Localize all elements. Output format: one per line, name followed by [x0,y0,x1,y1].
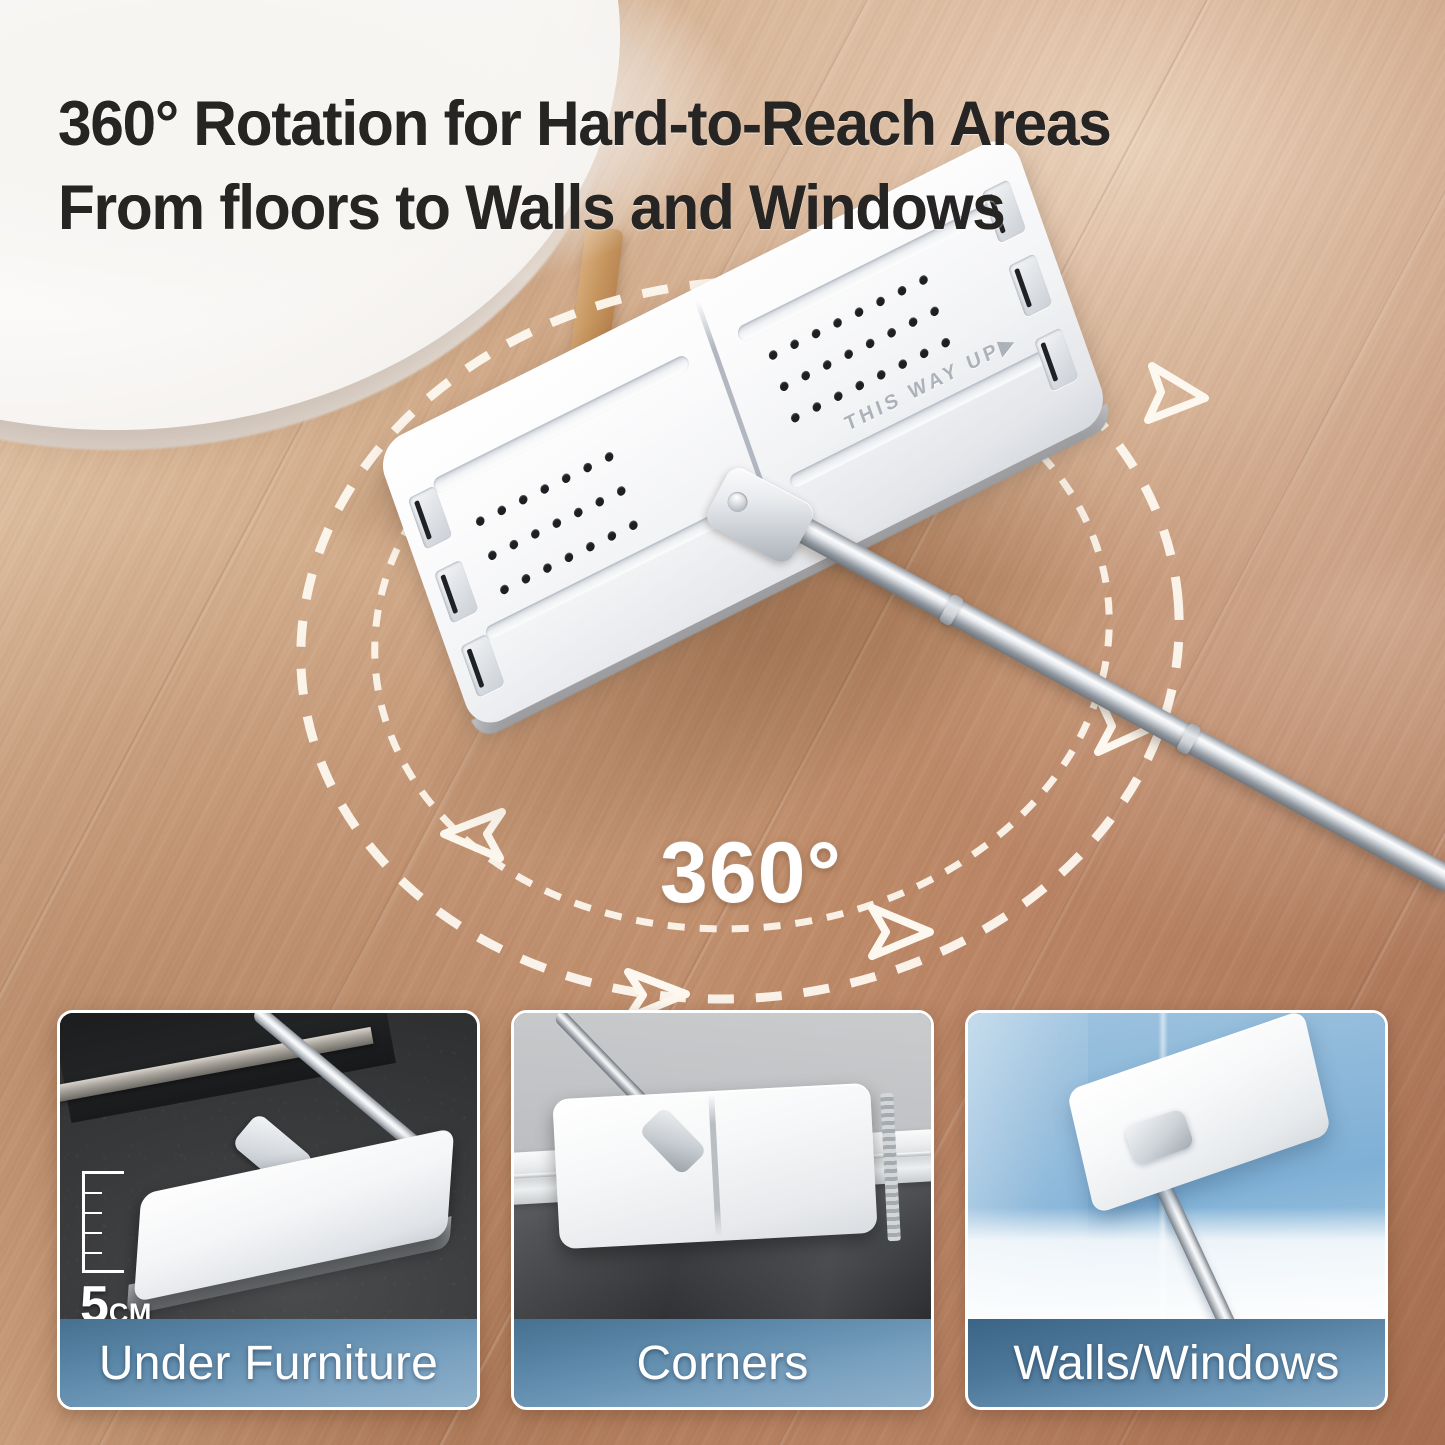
mop-pad-clip [1008,253,1053,318]
panel-label-corners: Corners [514,1319,931,1407]
headline-line-1-text: 360° Rotation for Hard-to-Reach Areas [58,89,1111,159]
feature-panel-strip: 5CM Under Furniture Corners [0,1010,1445,1445]
feature-panel-corners[interactable]: Corners [511,1010,934,1410]
feature-panel-walls-windows[interactable]: Walls/Windows [965,1010,1388,1410]
mop-groove-upper-left [431,354,691,496]
mop-head-vertical [552,1083,877,1249]
mop-pad-clip [1034,327,1079,392]
mop-head-center-seam [708,1095,721,1237]
height-measure-bracket [82,1171,124,1273]
pole-joint [938,593,964,626]
panel-label-walls-windows: Walls/Windows [968,1319,1385,1407]
panel-label-under-furniture: Under Furniture [60,1319,477,1407]
headline-foreground: 360° Rotation for Hard-to-Reach Areas Fr… [58,82,1357,250]
mop-hole-row [487,485,627,562]
pole-joint [1176,722,1202,755]
mop-hole-row [499,519,639,596]
mop-pad-clip [408,485,453,550]
product-feature-image: THIS WAY UP▶ 360° Rotation for Hard-to-R… [0,0,1445,1445]
headline-line-2-text: From floors to Walls and Windows [58,166,1357,250]
mop-pad-clip [434,559,479,624]
feature-panel-under-furniture[interactable]: 5CM Under Furniture [57,1010,480,1410]
mop-pad-clip [460,633,505,698]
rotation-degree-badge: 360° [660,824,842,923]
